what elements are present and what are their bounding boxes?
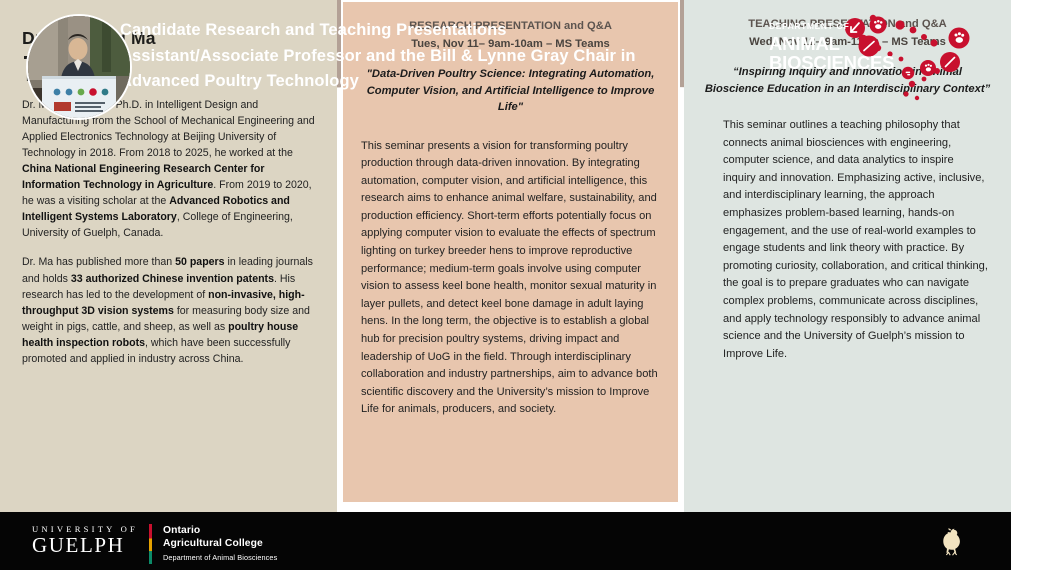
college-block: Ontario Agricultural College Department …	[163, 524, 277, 564]
title-line-3: Advanced Poultry Technology	[120, 69, 760, 95]
university-of-guelph-logo: UNIVERSITY OF GUELPH Ontario Agricultura…	[32, 524, 277, 564]
research-abstract: This seminar presents a vision for trans…	[361, 138, 660, 420]
department-logo: DEPARTMENT OF ANIMAL BIOSCIENCES	[766, 14, 981, 104]
dept-animal: ANIMAL	[769, 34, 894, 53]
bio-paragraph: Dr. Ma has published more than 50 papers…	[22, 254, 319, 367]
presentation-slide: Candidate Research and Teaching Presenta…	[0, 0, 1050, 570]
slide-footer: UNIVERSITY OF GUELPH Ontario Agricultura…	[0, 512, 1011, 570]
guelph-wordmark: UNIVERSITY OF GUELPH	[32, 524, 149, 564]
bio-text: Dr. Ma has published more than	[22, 256, 175, 268]
bio-emphasis: 50 papers	[175, 256, 224, 268]
college-line-2: Agricultural College	[163, 538, 277, 551]
bio-emphasis: 33 authorized Chinese invention patents	[71, 273, 274, 285]
chicken-icon	[933, 523, 969, 559]
college-line-3: Department of Animal Biosciences	[163, 552, 277, 564]
avatar	[26, 14, 132, 120]
title-line-2: Assistant/Associate Professor and the Bi…	[120, 44, 760, 70]
logo-divider	[149, 524, 152, 564]
department-logo-text: DEPARTMENT OF ANIMAL BIOSCIENCES	[769, 22, 894, 72]
content-band: Dr. Weihong Ma Bio Dr. Ma received his P…	[0, 112, 1011, 512]
college-line-1: Ontario	[163, 525, 277, 538]
guelph-name: GUELPH	[32, 535, 138, 555]
candidate-photo	[28, 16, 130, 118]
dept-kicker: DEPARTMENT OF	[769, 22, 894, 31]
teaching-abstract: This seminar outlines a teaching philoso…	[700, 117, 995, 363]
page-title: Candidate Research and Teaching Presenta…	[120, 18, 760, 95]
title-line-1: Candidate Research and Teaching Presenta…	[120, 18, 760, 44]
dept-biosciences: BIOSCIENCES	[769, 53, 894, 72]
